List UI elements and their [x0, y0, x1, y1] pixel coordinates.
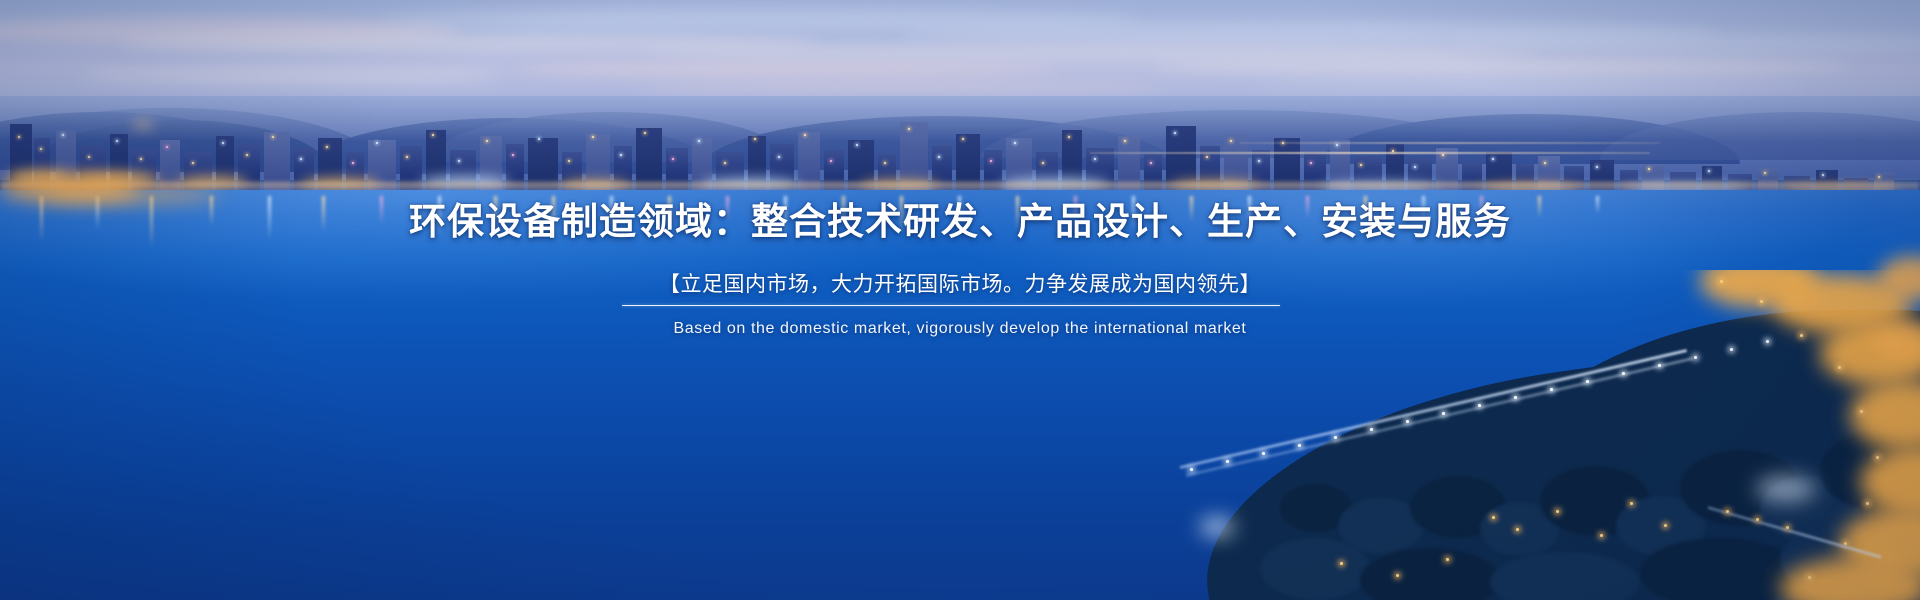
bridge	[1240, 142, 1660, 144]
shore-glow	[40, 186, 220, 204]
waterfront-peninsula	[1160, 270, 1920, 600]
bridge	[1090, 152, 1650, 154]
pavilion-dome-glow	[1200, 518, 1234, 536]
city-skyline	[0, 96, 1920, 196]
hero-banner: 环保设备制造领域：整合技术研发、产品设计、生产、安装与服务 【立足国内市场，大力…	[0, 0, 1920, 600]
